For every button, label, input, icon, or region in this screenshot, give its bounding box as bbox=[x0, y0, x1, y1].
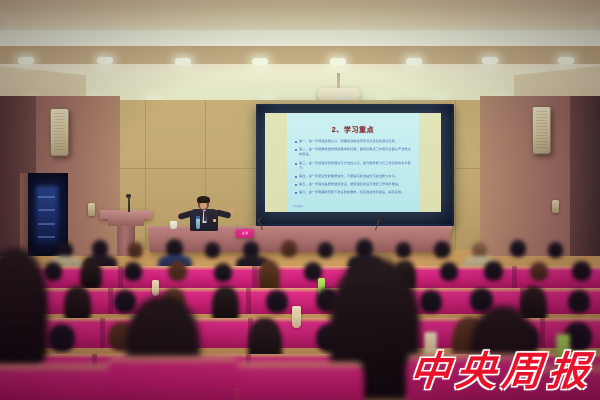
watermark-char-4: 报 bbox=[546, 352, 590, 392]
slide-bullet: 第一，进一步增强思想认识，明确项目制改革形式及目标的迫切任务。 bbox=[295, 139, 413, 144]
bullet-dot-icon bbox=[295, 163, 297, 165]
rack-indicator bbox=[38, 223, 55, 225]
downlight-icon bbox=[558, 57, 574, 64]
bullet-dot-icon bbox=[295, 176, 297, 178]
seat-divider bbox=[512, 266, 517, 288]
attendee-head bbox=[530, 262, 548, 281]
speaker-face bbox=[200, 202, 207, 209]
watermark-char-1: 中 bbox=[408, 352, 452, 392]
lectern-top bbox=[100, 210, 152, 219]
ceiling-upper-slab bbox=[0, 0, 600, 34]
wall-fixture-left[interactable] bbox=[88, 203, 95, 216]
slide-bullet-text: 第二，进一步把握党章党规新要求新标准，做到管重点工作落实全面从严治党主体责任。 bbox=[299, 147, 413, 157]
speaker-hair bbox=[197, 196, 210, 203]
foreground-seat[interactable] bbox=[0, 364, 120, 400]
water-bottle-cap bbox=[196, 216, 200, 219]
downlight-icon bbox=[18, 57, 34, 64]
speaker-hand-left bbox=[175, 209, 180, 214]
foreground-seat[interactable] bbox=[236, 362, 364, 400]
attendee-head bbox=[318, 242, 333, 258]
table-microphone-head bbox=[258, 217, 262, 220]
attendee-head bbox=[128, 242, 143, 258]
paper-cup bbox=[170, 221, 177, 229]
foreground-seat[interactable] bbox=[108, 356, 238, 400]
attendee-head bbox=[434, 241, 450, 258]
lectern-microphone-icon bbox=[128, 196, 130, 212]
projection-screen: 2、学习重点 第一，进一步增强思想认识，明确项目制改革形式及目标的迫切任务。 第… bbox=[265, 113, 441, 212]
water-bottle bbox=[292, 306, 301, 328]
attendee-head bbox=[214, 263, 232, 282]
attendee-head bbox=[572, 261, 591, 281]
slide-bullet: 第三，进一步加强对党的理论与方法的认识，提升服务能力与工作实效的水平能力。 bbox=[295, 161, 413, 171]
wall-seam bbox=[455, 100, 456, 250]
slide-bullet-text: 第五，进一步强化基层党组织建设，做到组织建设与党建工作同步推进。 bbox=[299, 182, 401, 187]
bullet-dot-icon bbox=[295, 141, 297, 143]
speaker-badge bbox=[213, 219, 216, 222]
speaker-tie bbox=[204, 211, 207, 221]
attendee-head bbox=[114, 290, 136, 313]
bullet-dot-icon bbox=[295, 184, 297, 186]
water-bottle bbox=[152, 280, 159, 296]
attendee-head bbox=[266, 290, 288, 313]
bullet-dot-icon bbox=[295, 149, 297, 151]
seat-divider bbox=[108, 288, 113, 314]
attendee-head bbox=[440, 262, 458, 281]
seat-divider bbox=[540, 318, 545, 348]
attendee-head bbox=[568, 290, 590, 313]
attendee-head bbox=[548, 242, 563, 258]
attendee-head bbox=[396, 242, 411, 258]
slide-bullet-text: 第六，进一步明确新形势下新任务新要求，切实改进作风建设、提高实效。 bbox=[299, 190, 404, 195]
attendee-head bbox=[205, 242, 220, 258]
slide-title: 2、学习重点 bbox=[287, 125, 419, 135]
table-microphone-head bbox=[377, 217, 381, 220]
rack-indicator bbox=[38, 196, 55, 198]
seat-divider bbox=[246, 288, 251, 314]
water-bottle bbox=[196, 218, 200, 229]
nameplate-label: 主讲 bbox=[236, 231, 254, 235]
lecture-hall-photo: 2、学习重点 第一，进一步增强思想认识，明确项目制改革形式及目标的迫切任务。 第… bbox=[0, 0, 600, 400]
attendee-long-hair bbox=[80, 260, 102, 290]
slide-bullet-text: 第三，进一步加强对党的理论与方法的认识，提升服务能力与工作实效的水平能力。 bbox=[299, 161, 413, 171]
attendee-head bbox=[510, 240, 526, 257]
loudspeaker-icon-left bbox=[50, 108, 69, 156]
speaker-hand-right bbox=[230, 208, 235, 213]
slide-bullet: 第四，进一步坚定党的理想信念，不断提高政治站位与政治能力水平。 bbox=[295, 174, 413, 179]
wall-fixture-right[interactable] bbox=[552, 200, 559, 213]
attendee-head bbox=[484, 261, 503, 281]
attendee-head bbox=[124, 262, 142, 281]
slide-bullet-text: 第四，进一步坚定党的理想信念，不断提高政治站位与政治能力水平。 bbox=[299, 174, 398, 179]
downlight-icon bbox=[330, 58, 346, 65]
lectern-microphone-head bbox=[126, 194, 131, 198]
attendee-head bbox=[281, 240, 297, 257]
slide-footer: 学习贯彻 bbox=[293, 204, 303, 208]
slide-content: 2、学习重点 第一，进一步增强思想认识，明确项目制改革形式及目标的迫切任务。 第… bbox=[287, 113, 419, 212]
seat-divider bbox=[252, 266, 257, 288]
seat-divider bbox=[100, 318, 105, 348]
attendee-head bbox=[420, 290, 442, 313]
downlight-icon bbox=[175, 58, 191, 65]
loudspeaker-icon-right bbox=[532, 106, 551, 154]
downlight-icon bbox=[406, 58, 422, 65]
watermark-char-2: 央 bbox=[454, 352, 498, 392]
slide-bullet: 第五，进一步强化基层党组织建设，做到组织建设与党建工作同步推进。 bbox=[295, 182, 413, 187]
side-wall-right-shadow bbox=[570, 96, 600, 256]
slide-bullet: 第六，进一步明确新形势下新任务新要求，切实改进作风建设、提高实效。 bbox=[295, 190, 413, 195]
downlight-icon bbox=[97, 57, 113, 64]
watermark-char-3: 周 bbox=[500, 352, 544, 392]
seat-divider bbox=[118, 266, 123, 288]
attendee-head bbox=[168, 261, 187, 281]
slide-bullet: 第二，进一步把握党章党规新要求新标准，做到管重点工作落实全面从严治党主体责任。 bbox=[295, 147, 413, 157]
watermark: 中 央 周 报 bbox=[410, 352, 588, 392]
slide-bullet-text: 第一，进一步增强思想认识，明确项目制改革形式及目标的迫切任务。 bbox=[299, 139, 398, 144]
rack-indicator bbox=[38, 209, 55, 211]
attendee-head bbox=[48, 324, 75, 352]
bullet-dot-icon bbox=[295, 192, 297, 194]
lectern-neck bbox=[108, 219, 144, 226]
downlight-icon bbox=[482, 57, 498, 64]
slide-bullet-list: 第一，进一步增强思想认识，明确项目制改革形式及目标的迫切任务。 第二，进一步把握… bbox=[295, 139, 413, 199]
downlight-icon bbox=[252, 58, 268, 65]
attendee-head bbox=[44, 262, 62, 281]
